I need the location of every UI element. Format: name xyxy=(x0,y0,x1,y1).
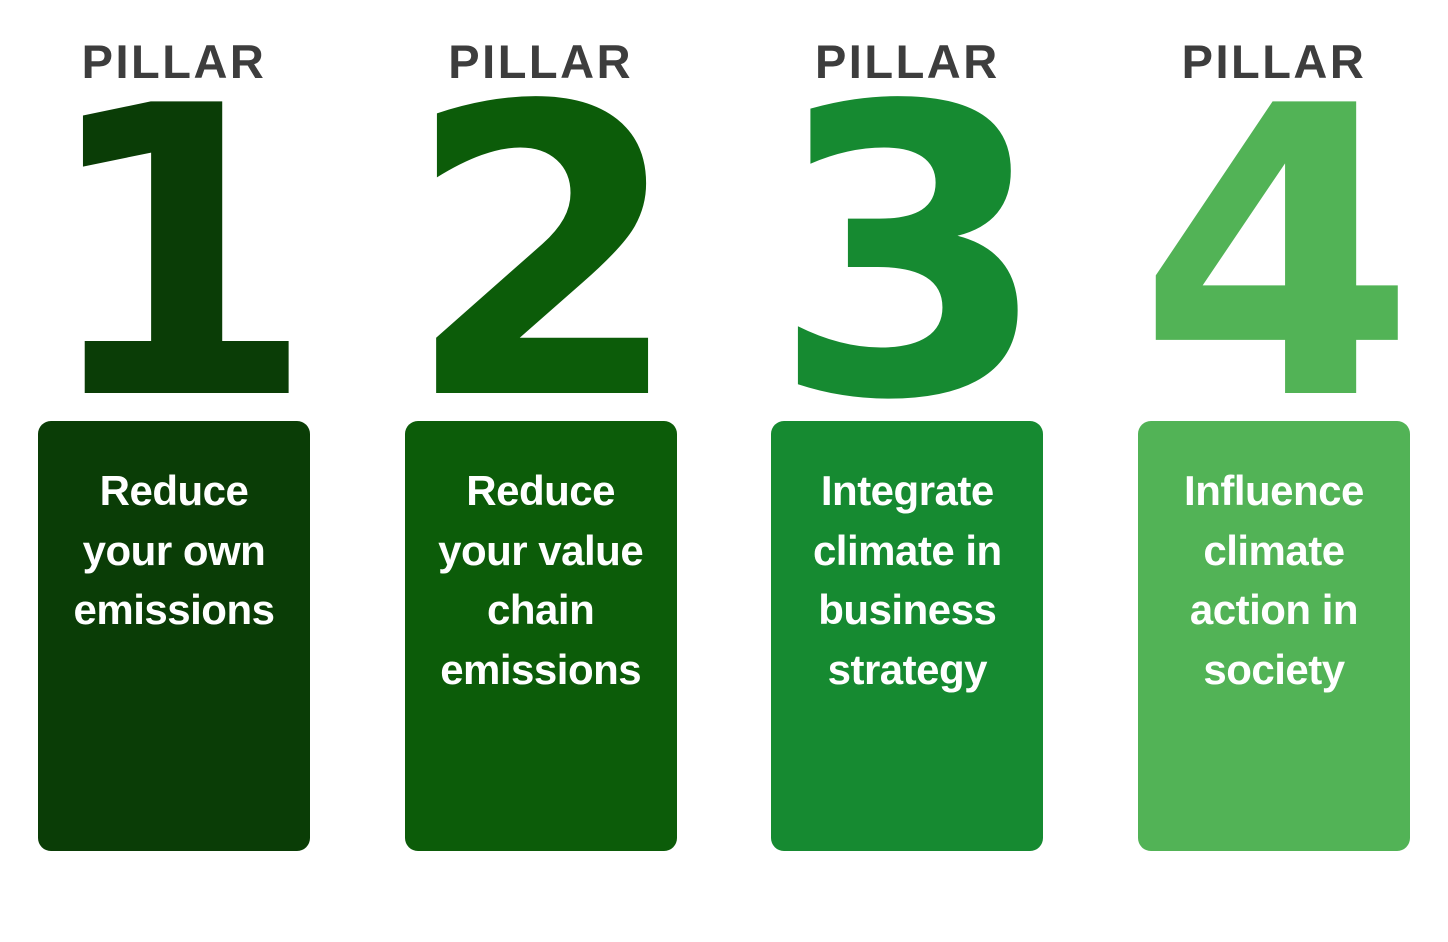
pillar-card-text-1: Reduce your own emissions xyxy=(52,461,296,640)
pillar-numeral-3: 3 xyxy=(771,91,1043,421)
pillar-card-1: Reduce your own emissions xyxy=(38,421,310,851)
pillar-numeral-1: 1 xyxy=(38,91,310,421)
pillar-card-text-3: Integrate climate in business strategy xyxy=(785,461,1029,700)
pillar-card-text-4: Influence climate action in society xyxy=(1152,461,1396,700)
pillar-column-1: PILLAR 1 Reduce your own emissions xyxy=(38,0,310,942)
pillar-column-3: PILLAR 3 Integrate climate in business s… xyxy=(771,0,1043,942)
pillar-card-3: Integrate climate in business strategy xyxy=(771,421,1043,851)
four-pillars-infographic: PILLAR 1 Reduce your own emissions PILLA… xyxy=(0,0,1448,942)
pillar-column-4: PILLAR 4 Influence climate action in soc… xyxy=(1138,0,1410,942)
pillar-card-2: Reduce your value chain emissions xyxy=(405,421,677,851)
pillar-column-2: PILLAR 2 Reduce your value chain emissio… xyxy=(405,0,677,942)
pillar-numeral-4: 4 xyxy=(1138,91,1410,421)
pillar-card-4: Influence climate action in society xyxy=(1138,421,1410,851)
pillar-card-text-2: Reduce your value chain emissions xyxy=(419,461,663,700)
pillar-numeral-2: 2 xyxy=(405,91,677,421)
